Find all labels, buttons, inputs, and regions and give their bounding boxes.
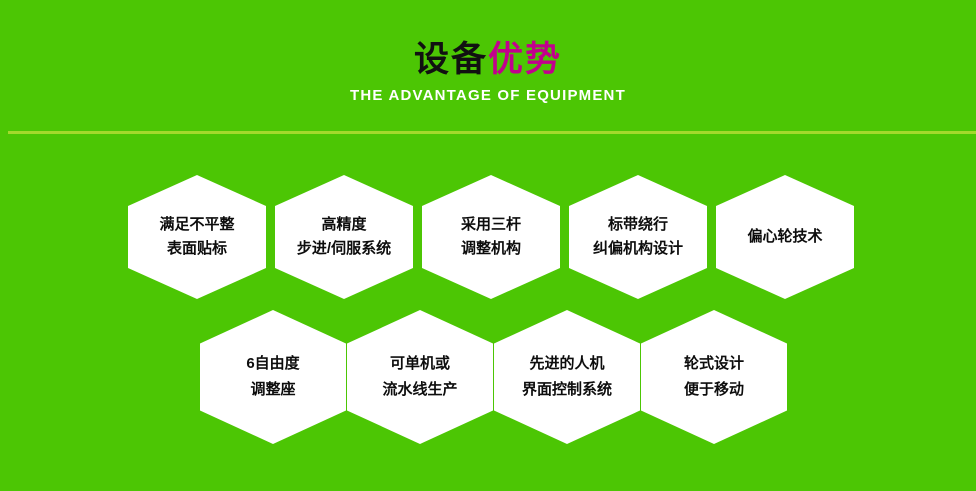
hex-card-8[interactable]: 先进的人机 界面控制系统	[494, 310, 640, 444]
hex-card-6-line-1: 6自由度	[246, 351, 299, 377]
hex-card-8-line-1: 先进的人机	[529, 351, 604, 377]
hex-card-9-line-1: 轮式设计	[684, 351, 744, 377]
hex-card-2-line-1: 高精度	[321, 213, 366, 237]
hex-card-3-line-1: 采用三杆	[461, 213, 521, 237]
equipment-advantage-banner: 设备优势 THE ADVANTAGE OF EQUIPMENT 满足不平整 表面…	[0, 0, 976, 491]
hex-card-5-line-1: 偏心轮技术	[747, 225, 822, 249]
hex-card-5[interactable]: 偏心轮技术	[716, 175, 854, 299]
hex-card-7-line-2: 流水线生产	[382, 377, 457, 403]
hex-card-9-line-2: 便于移动	[684, 377, 744, 403]
hex-card-1-line-1: 满足不平整	[159, 213, 234, 237]
hex-card-4-line-2: 纠偏机构设计	[593, 237, 683, 261]
hex-card-4-line-1: 标带绕行	[608, 213, 668, 237]
hexagon-grid: 满足不平整 表面贴标 高精度 步进/伺服系统 采用三杆 调整机构 标带绕行 纠偏…	[0, 0, 976, 491]
hex-card-8-line-2: 界面控制系统	[522, 377, 612, 403]
hex-card-3-line-2: 调整机构	[461, 237, 521, 261]
hex-card-7[interactable]: 可单机或 流水线生产	[347, 310, 493, 444]
hex-card-7-line-1: 可单机或	[390, 351, 450, 377]
hex-card-6-line-2: 调整座	[250, 377, 295, 403]
hex-card-3[interactable]: 采用三杆 调整机构	[422, 175, 560, 299]
hex-card-1-line-2: 表面贴标	[167, 237, 227, 261]
hex-card-6[interactable]: 6自由度 调整座	[200, 310, 346, 444]
hex-card-4[interactable]: 标带绕行 纠偏机构设计	[569, 175, 707, 299]
hex-card-9[interactable]: 轮式设计 便于移动	[641, 310, 787, 444]
hex-card-2-line-2: 步进/伺服系统	[297, 237, 391, 261]
hex-card-2[interactable]: 高精度 步进/伺服系统	[275, 175, 413, 299]
hex-card-1[interactable]: 满足不平整 表面贴标	[128, 175, 266, 299]
